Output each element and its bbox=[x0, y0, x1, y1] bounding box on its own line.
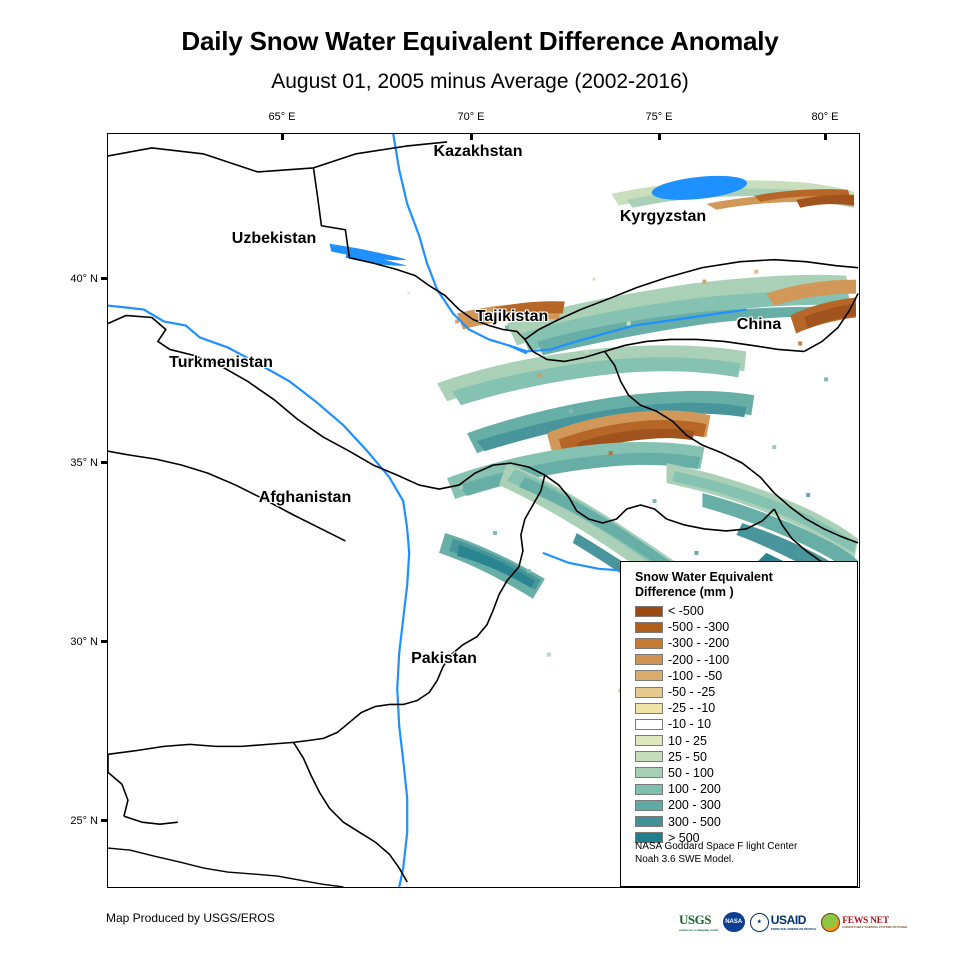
legend-label: 10 - 25 bbox=[668, 735, 707, 747]
fews-logo-tagline: FAMINE EARLY WARNING SYSTEMS NETWORK bbox=[842, 926, 907, 929]
lon-tick-label-80: 80° E bbox=[811, 111, 838, 123]
lon-tick-label-75: 75° E bbox=[645, 111, 672, 123]
fews-logo-text: FEWS NET bbox=[842, 916, 888, 926]
legend-swatch bbox=[635, 767, 663, 778]
legend-item: 50 - 100 bbox=[635, 765, 850, 781]
lon-tick-label-65: 65° E bbox=[268, 111, 295, 123]
legend-credit: NASA Goddard Space F light Center Noah 3… bbox=[635, 840, 850, 866]
map-page: Daily Snow Water Equivalent Difference A… bbox=[0, 0, 960, 960]
lat-tick-35 bbox=[101, 461, 108, 464]
legend-item: 25 - 50 bbox=[635, 749, 850, 765]
legend-swatch bbox=[635, 687, 663, 698]
legend-label: -100 - -50 bbox=[668, 670, 722, 682]
lon-tick-75 bbox=[658, 133, 661, 140]
legend-label: 200 - 300 bbox=[668, 799, 721, 811]
legend-swatch bbox=[635, 622, 663, 633]
legend-item: -100 - -50 bbox=[635, 668, 850, 684]
legend-label: 50 - 100 bbox=[668, 767, 714, 779]
legend-item: -10 - 10 bbox=[635, 716, 850, 732]
country-label-tajikistan: Tajikistan bbox=[476, 308, 549, 326]
page-title: Daily Snow Water Equivalent Difference A… bbox=[0, 26, 960, 57]
legend-title: Snow Water Equivalent Difference (mm ) bbox=[635, 570, 845, 600]
legend-item: 300 - 500 bbox=[635, 813, 850, 829]
legend-swatch bbox=[635, 719, 663, 730]
legend-label: 100 - 200 bbox=[668, 783, 721, 795]
country-label-kyrgyzstan: Kyrgyzstan bbox=[620, 208, 706, 226]
lat-tick-label-35: 35° N bbox=[60, 457, 98, 469]
legend-item: 200 - 300 bbox=[635, 797, 850, 813]
legend-item: < -500 bbox=[635, 603, 850, 619]
lon-tick-70 bbox=[470, 133, 473, 140]
lon-tick-65 bbox=[281, 133, 284, 140]
lat-tick-40 bbox=[101, 277, 108, 280]
legend-swatch bbox=[635, 735, 663, 746]
legend-label: -200 - -100 bbox=[668, 654, 729, 666]
lon-tick-80 bbox=[824, 133, 827, 140]
legend-item: -25 - -10 bbox=[635, 700, 850, 716]
legend-items: < -500 -500 - -300 -300 - -200 -200 - -1… bbox=[635, 603, 850, 846]
legend-label: < -500 bbox=[668, 605, 704, 617]
country-label-uzbekistan: Uzbekistan bbox=[232, 230, 316, 248]
legend-label: -500 - -300 bbox=[668, 621, 729, 633]
legend-swatch bbox=[635, 606, 663, 617]
legend-item: -50 - -25 bbox=[635, 684, 850, 700]
lat-tick-25 bbox=[101, 819, 108, 822]
legend-credit-line1: NASA Goddard Space F light Center bbox=[635, 840, 850, 853]
legend-label: 25 - 50 bbox=[668, 751, 707, 763]
lat-tick-30 bbox=[101, 640, 108, 643]
legend-item: -200 - -100 bbox=[635, 652, 850, 668]
legend-swatch bbox=[635, 816, 663, 827]
country-label-china: China bbox=[737, 316, 781, 334]
usaid-logo-tagline: FROM THE AMERICAN PEOPLE bbox=[771, 927, 817, 931]
legend-swatch bbox=[635, 670, 663, 681]
legend-item: 100 - 200 bbox=[635, 781, 850, 797]
legend-label: -50 - -25 bbox=[668, 686, 715, 698]
usgs-logo-text: USGS bbox=[679, 912, 711, 927]
legend-label: -300 - -200 bbox=[668, 637, 729, 649]
fews-net-logo[interactable]: FEWS NET FAMINE EARLY WARNING SYSTEMS NE… bbox=[821, 912, 907, 932]
legend-label: -25 - -10 bbox=[668, 702, 715, 714]
legend-credit-line2: Noah 3.6 SWE Model. bbox=[635, 853, 850, 866]
usgs-logo[interactable]: USGS science for a changing world bbox=[679, 912, 718, 932]
legend-swatch bbox=[635, 654, 663, 665]
legend-swatch bbox=[635, 638, 663, 649]
nasa-logo[interactable]: NASA bbox=[723, 912, 745, 932]
fews-globe-icon bbox=[821, 913, 840, 932]
lat-tick-label-40: 40° N bbox=[60, 273, 98, 285]
lon-tick-label-70: 70° E bbox=[457, 111, 484, 123]
usaid-logo-text: USAID bbox=[771, 913, 806, 927]
logo-strip: USGS science for a changing world NASA ★… bbox=[679, 909, 907, 935]
legend-item: -300 - -200 bbox=[635, 635, 850, 651]
page-subtitle: August 01, 2005 minus Average (2002-2016… bbox=[0, 70, 960, 94]
coastline bbox=[108, 848, 343, 887]
legend-swatch bbox=[635, 800, 663, 811]
legend-label: 300 - 500 bbox=[668, 816, 721, 828]
legend-label: -10 - 10 bbox=[668, 718, 711, 730]
nasa-logo-text: NASA bbox=[723, 912, 745, 932]
legend-swatch bbox=[635, 703, 663, 714]
country-label-kazakhstan: Kazakhstan bbox=[434, 143, 523, 161]
usaid-seal-icon: ★ bbox=[750, 913, 769, 932]
country-label-turkmenistan: Turkmenistan bbox=[169, 354, 273, 372]
legend-item: 10 - 25 bbox=[635, 733, 850, 749]
lat-tick-label-25: 25° N bbox=[60, 815, 98, 827]
legend-item: -500 - -300 bbox=[635, 619, 850, 635]
legend-swatch bbox=[635, 784, 663, 795]
legend-title-line1: Snow Water Equivalent bbox=[635, 570, 845, 585]
country-label-afghanistan: Afghanistan bbox=[259, 489, 351, 507]
usgs-logo-tagline: science for a changing world bbox=[679, 928, 718, 932]
lat-tick-label-30: 30° N bbox=[60, 636, 98, 648]
producer-credit: Map Produced by USGS/EROS bbox=[106, 911, 275, 925]
usaid-logo[interactable]: ★ USAID FROM THE AMERICAN PEOPLE bbox=[750, 912, 817, 932]
legend-title-line2: Difference (mm ) bbox=[635, 585, 845, 600]
legend-swatch bbox=[635, 751, 663, 762]
country-label-pakistan: Pakistan bbox=[411, 650, 477, 668]
legend-panel: Snow Water Equivalent Difference (mm ) <… bbox=[620, 561, 858, 887]
